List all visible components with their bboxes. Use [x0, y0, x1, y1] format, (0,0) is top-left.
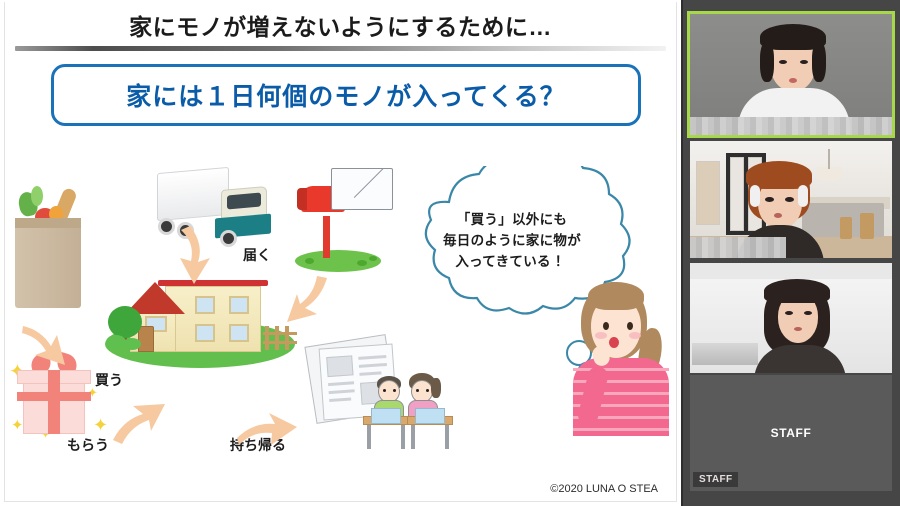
bubble-line-1: 「買う」以外にも: [387, 210, 637, 231]
question-callout-box: 家には１日何個のモノが入ってくる？: [51, 64, 641, 126]
participant-name-badge: STAFF: [693, 472, 738, 487]
bubble-line-2: 毎日のように家に物が: [387, 231, 637, 252]
shared-slide[interactable]: 家にモノが増えないようにするために… 家には１日何個のモノが入ってくる？ 買う: [0, 0, 683, 506]
cycle-diagram: 買う: [5, 130, 683, 506]
video-tile-3[interactable]: [690, 263, 892, 373]
camera-off-placeholder-label: STAFF: [690, 426, 892, 440]
copyright-notice: ©2020 LUNA O STEA: [5, 483, 658, 495]
video-tile-2[interactable]: [690, 141, 892, 258]
bubble-line-3: 入ってきている ！: [387, 252, 637, 273]
meeting-screen-share-view: 家にモノが増えないようにするために… 家には１日何個のモノが入ってくる？ 買う: [0, 0, 900, 506]
bubble-text: 「買う」以外にも 毎日のように家に物が 入ってきている ！: [387, 210, 637, 273]
participant-video-panel: STAFF STAFF: [683, 0, 900, 506]
video-tile-1[interactable]: [690, 14, 892, 135]
slide-canvas: 家にモノが増えないようにするために… 家には１日何個のモノが入ってくる？ 買う: [4, 2, 677, 502]
video-tile-4-staff[interactable]: STAFF STAFF: [690, 375, 892, 491]
question-text: 家には１日何個のモノが入ってくる？: [126, 77, 566, 113]
slide-title: 家にモノが増えないようにするために…: [5, 6, 676, 44]
title-divider: [15, 46, 666, 51]
